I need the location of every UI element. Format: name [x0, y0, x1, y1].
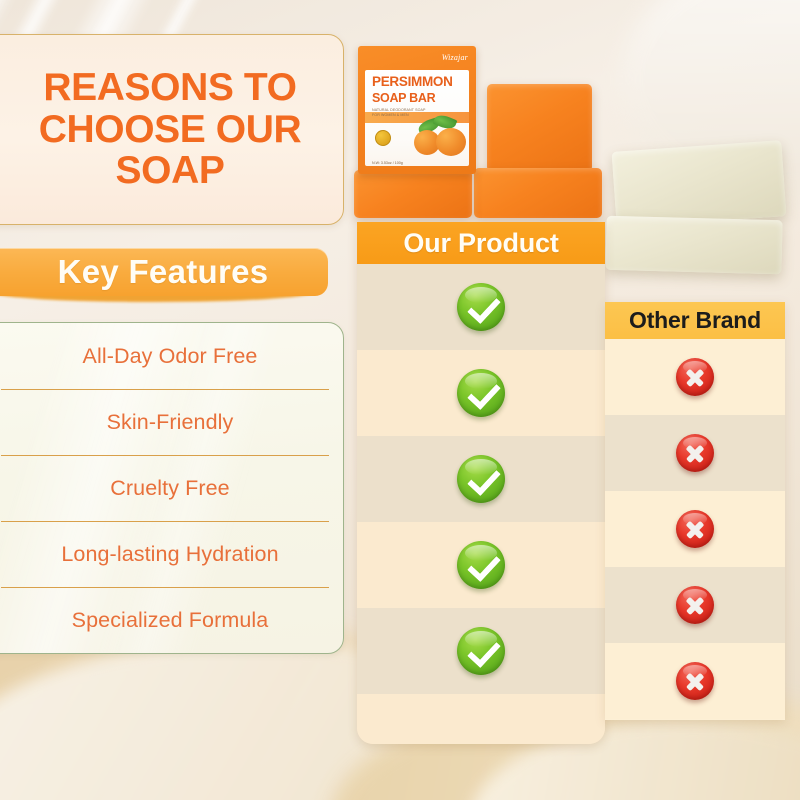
- orange-soap-bar-front: [474, 168, 602, 218]
- package-name-line1: PERSIMMON: [372, 74, 453, 89]
- feature-label: Skin-Friendly: [107, 410, 234, 435]
- cross-icon: [676, 434, 714, 472]
- table-row: [357, 436, 605, 522]
- table-row: [357, 608, 605, 694]
- title-line-3: SOAP: [20, 150, 320, 192]
- check-icon: [457, 369, 505, 417]
- brand-logo: Wizajar: [442, 53, 468, 62]
- list-item: Cruelty Free: [0, 455, 343, 521]
- persimmon-icon: [436, 128, 466, 156]
- check-icon: [457, 283, 505, 331]
- cross-icon: [676, 358, 714, 396]
- feature-label: Specialized Formula: [72, 608, 269, 633]
- other-brand-header: Other Brand: [605, 302, 785, 339]
- package-name-line2: SOAP BAR: [372, 91, 435, 105]
- title-line-2: CHOOSE OUR: [20, 109, 320, 151]
- table-row: [357, 264, 605, 350]
- list-item: Skin-Friendly: [0, 389, 343, 455]
- product-package-box: Wizajar PERSIMMON SOAP BAR NATURAL DEODO…: [358, 46, 476, 174]
- infographic-canvas: Wizajar PERSIMMON SOAP BAR NATURAL DEODO…: [0, 0, 800, 800]
- package-seal-icon: [375, 130, 391, 146]
- table-row: [357, 522, 605, 608]
- feature-label: Long-lasting Hydration: [61, 542, 278, 567]
- cross-icon: [676, 586, 714, 624]
- table-row: [605, 491, 785, 567]
- key-features-card: All-Day Odor Free Skin-Friendly Cruelty …: [0, 322, 344, 654]
- table-row: [605, 415, 785, 491]
- title-line-1: REASONS TO: [20, 67, 320, 109]
- cross-icon: [676, 510, 714, 548]
- feature-label: Cruelty Free: [110, 476, 229, 501]
- table-row: [357, 350, 605, 436]
- key-features-banner: Key Features: [0, 248, 332, 304]
- package-description: NATURAL DEODORANT SOAP FOR WOMEN & MEN: [372, 108, 428, 118]
- table-row: [605, 643, 785, 719]
- table-row-filler: [357, 694, 605, 744]
- feature-list: All-Day Odor Free Skin-Friendly Cruelty …: [0, 323, 343, 653]
- other-brand-header-label: Other Brand: [629, 307, 761, 334]
- check-icon: [457, 455, 505, 503]
- package-net-weight: N.W: 3.53oz / 100g: [372, 161, 403, 165]
- list-item: Specialized Formula: [0, 587, 343, 653]
- our-product-column: Our Product: [357, 222, 605, 744]
- cross-icon: [676, 662, 714, 700]
- list-item: All-Day Odor Free: [0, 323, 343, 389]
- list-item: Long-lasting Hydration: [0, 521, 343, 587]
- table-row: [605, 567, 785, 643]
- key-features-label: Key Features: [38, 253, 269, 291]
- check-icon: [457, 627, 505, 675]
- other-brand-column: Other Brand: [605, 302, 785, 720]
- banner-pill: Key Features: [0, 248, 328, 296]
- our-product-header-label: Our Product: [403, 228, 558, 259]
- our-product-header: Our Product: [357, 222, 605, 264]
- check-icon: [457, 541, 505, 589]
- our-product-rows: [357, 264, 605, 744]
- cream-soap-bar-top: [612, 140, 787, 228]
- orange-soap-bar-tall: [487, 84, 592, 172]
- title-card: REASONS TO CHOOSE OUR SOAP: [0, 34, 344, 225]
- cream-soap-bar-bottom: [605, 216, 782, 275]
- orange-soap-bar-left: [354, 170, 472, 218]
- other-brand-rows: [605, 339, 785, 719]
- page-title: REASONS TO CHOOSE OUR SOAP: [0, 67, 320, 192]
- table-row: [605, 339, 785, 415]
- feature-label: All-Day Odor Free: [83, 344, 258, 369]
